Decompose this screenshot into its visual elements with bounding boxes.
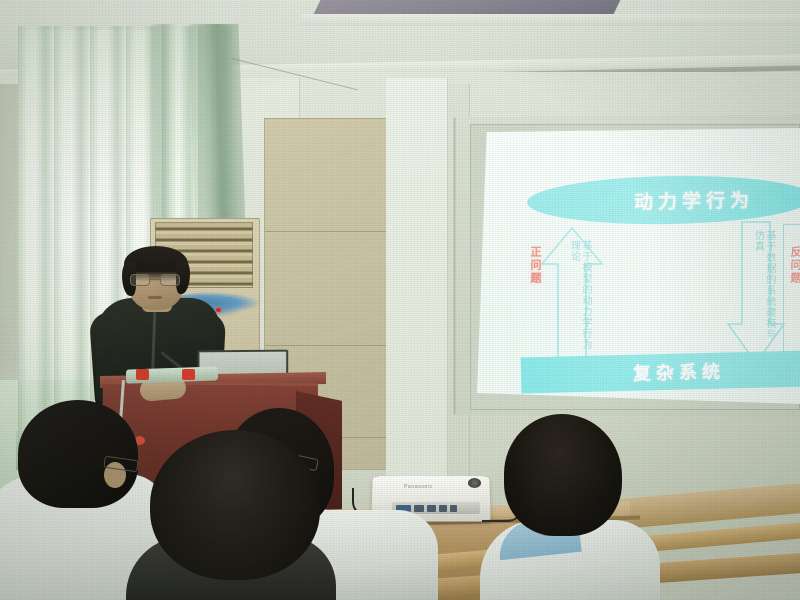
microphone-indicator-1 xyxy=(136,369,149,380)
slide-diagram: 动力学行为 基于模型的动力学行为理论 正问题 基于数据的系统建模与仿真 反问题 xyxy=(477,128,800,404)
projector-port-lan xyxy=(427,505,436,512)
audience-member-right-head xyxy=(504,414,622,536)
projector-lens xyxy=(468,478,481,488)
diagram-node-complex-system-label: 复杂系统 xyxy=(605,358,726,387)
projector-port-hdmi xyxy=(414,505,424,512)
presentation-photo: 动力学行为 基于模型的动力学行为理论 正问题 基于数据的系统建模与仿真 反问题 xyxy=(0,0,800,600)
diagram-node-dynamic-behavior: 动力学行为 xyxy=(527,174,800,227)
ceiling-recess-lip xyxy=(298,14,800,26)
speaker-eyeglasses xyxy=(130,274,182,286)
diagram-node-complex-system: 复杂系统 xyxy=(521,350,800,393)
diagram-label-inverse-problem: 反问题 xyxy=(789,246,800,285)
diagram-arrow-up-label: 基于模型的动力学行为理论 xyxy=(553,240,591,358)
projector-port-audio xyxy=(450,505,457,512)
projector-port-usb xyxy=(439,505,447,512)
audience-member-center-head xyxy=(150,430,320,580)
speaker-mouth xyxy=(148,296,162,299)
audience-member-left-head xyxy=(18,400,138,508)
microphone-indicator-2 xyxy=(182,369,195,380)
projector-brand-label: Panasonic xyxy=(404,484,452,490)
diagram-label-forward-problem: 正问题 xyxy=(529,246,542,285)
power-indicator-light xyxy=(216,308,221,312)
diagram-node-dynamic-behavior-label: 动力学行为 xyxy=(586,185,754,215)
diagram-right-callout-box xyxy=(783,224,800,352)
projection-screen: 动力学行为 基于模型的动力学行为理论 正问题 基于数据的系统建模与仿真 反问题 xyxy=(477,128,800,404)
diagram-arrow-down-label: 基于数据的系统建模与仿真 xyxy=(737,230,775,342)
wall-pilaster-center xyxy=(386,78,448,508)
